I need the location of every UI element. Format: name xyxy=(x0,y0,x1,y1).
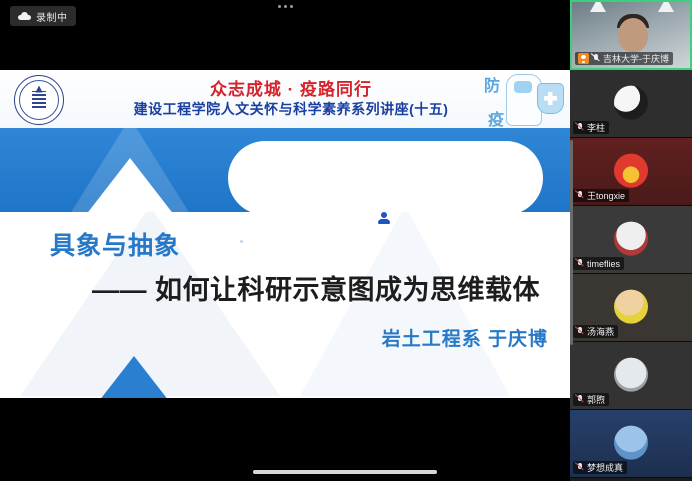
annotation-dot xyxy=(240,240,243,243)
participant-nameplate-4: 汤海燕 xyxy=(573,325,618,338)
participant-nameplate-1: 李柱 xyxy=(573,121,609,134)
college-logo-icon xyxy=(14,75,64,125)
mic-muted-icon xyxy=(576,394,584,405)
mic-muted-icon xyxy=(592,53,600,64)
logo-book-shape xyxy=(32,91,46,110)
mic-muted-icon xyxy=(576,326,584,337)
participant-name-2: 王tongxie xyxy=(587,189,625,202)
dot-2 xyxy=(284,5,287,8)
participant-avatar-4 xyxy=(614,289,648,323)
art-char-fang: 防 xyxy=(484,72,500,96)
participant-face-shape xyxy=(618,18,648,52)
participant-tile-5[interactable]: 郭煦 xyxy=(570,342,692,410)
participant-tile-1[interactable]: 李柱 xyxy=(570,70,692,138)
participant-nameplate-6: 梦想成真 xyxy=(573,461,627,474)
slide-title-secondary: —— 如何让科研示意图成为思维载体 xyxy=(92,268,540,307)
recording-label: 录制中 xyxy=(36,9,68,24)
meeting-window: 录制中 众志成城 · 疫路同行 建设工程学院人文关怀与科学素养系列讲座(十五) xyxy=(0,0,692,481)
participant-nameplate-3: timeflies xyxy=(573,257,624,270)
slide-header: 众志成城 · 疫路同行 建设工程学院人文关怀与科学素养系列讲座(十五) 防 疫 xyxy=(0,70,570,128)
participant-avatar-5 xyxy=(614,357,648,391)
participant-tile-6[interactable]: 梦想成真 xyxy=(570,410,692,478)
epidemic-prevention-illustration: 防 疫 xyxy=(482,70,566,128)
mic-muted-icon xyxy=(576,462,584,473)
slide-header-titles: 众志成城 · 疫路同行 建设工程学院人文关怀与科学素养系列讲座(十五) xyxy=(122,79,449,119)
mic-muted-icon xyxy=(576,258,584,269)
presentation-slide: 众志成城 · 疫路同行 建设工程学院人文关怀与科学素养系列讲座(十五) 防 疫 xyxy=(0,70,570,398)
participant-avatar-3 xyxy=(614,221,648,255)
slide-body: 具象与抽象 —— 如何让科研示意图成为思维载体 岩土工程系 于庆博 xyxy=(0,212,570,398)
logo-inner-ring xyxy=(19,80,59,120)
participant-name-3: timeflies xyxy=(587,259,620,269)
participant-nameplate-0: 吉林大学-于庆博 xyxy=(575,52,673,65)
participant-tile-4[interactable]: 汤海燕 xyxy=(570,274,692,342)
slide-presenter: 岩土工程系 于庆博 xyxy=(382,324,548,351)
participant-name-6: 梦想成真 xyxy=(587,461,623,474)
participant-tile-2[interactable]: 王tongxie xyxy=(570,138,692,206)
participant-name-1: 李柱 xyxy=(587,121,605,134)
ceiling-lamp-icon-2 xyxy=(658,2,674,12)
participant-avatar-2 xyxy=(614,153,648,187)
participant-name-0: 吉林大学-于庆博 xyxy=(603,52,669,65)
home-indicator-bar[interactable] xyxy=(253,470,437,474)
participant-tile-0[interactable]: 吉林大学-于庆博 xyxy=(570,0,692,70)
slide-title-primary: 具象与抽象 xyxy=(50,226,180,262)
participant-nameplate-2: 王tongxie xyxy=(573,189,629,202)
bg-triangle-blue xyxy=(78,356,190,398)
shield-cross-icon xyxy=(537,83,564,114)
presenter-pointer-icon xyxy=(378,212,390,224)
recording-badge: 录制中 xyxy=(10,6,76,26)
cloud-icon xyxy=(18,12,31,20)
participant-avatar-1 xyxy=(614,85,648,119)
ceiling-lamp-icon-1 xyxy=(590,2,606,12)
participant-name-5: 郭煦 xyxy=(587,393,605,406)
participant-avatar-6 xyxy=(614,425,648,459)
more-options-dots[interactable] xyxy=(0,5,570,8)
band-triangle-white xyxy=(82,158,178,212)
dot-3 xyxy=(290,5,293,8)
participant-nameplate-5: 郭煦 xyxy=(573,393,609,406)
mic-muted-icon xyxy=(576,190,584,201)
slide-blue-band xyxy=(0,128,570,212)
participant-name-4: 汤海燕 xyxy=(587,325,614,338)
art-char-yi: 疫 xyxy=(488,106,504,128)
slide-header-main-title: 众志成城 · 疫路同行 xyxy=(134,79,449,100)
slide-header-subtitle: 建设工程学院人文关怀与科学素养系列讲座(十五) xyxy=(134,100,449,119)
host-badge-icon xyxy=(578,53,589,64)
mic-muted-icon xyxy=(576,122,584,133)
shared-screen-stage[interactable]: 众志成城 · 疫路同行 建设工程学院人文关怀与科学素养系列讲座(十五) 防 疫 xyxy=(0,0,570,481)
participant-tile-3[interactable]: timeflies xyxy=(570,206,692,274)
dot-1 xyxy=(278,5,281,8)
filmstrip-scrollbar[interactable] xyxy=(570,140,573,345)
participants-filmstrip[interactable]: 吉林大学-于庆博 李柱 王tongxie xyxy=(570,0,692,481)
band-pill-shape xyxy=(228,141,543,212)
